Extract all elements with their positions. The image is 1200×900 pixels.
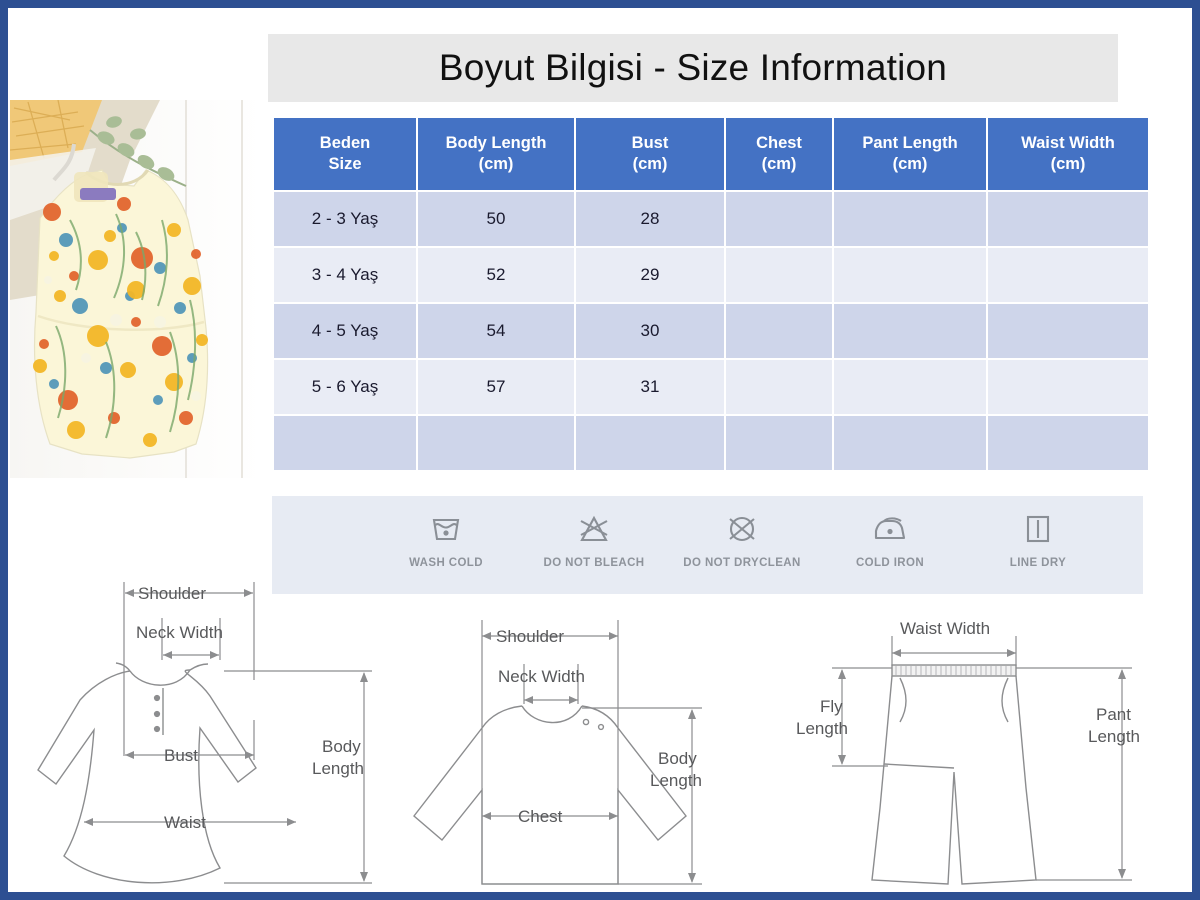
care-label-do-not-bleach: DO NOT BLEACH [543, 557, 644, 569]
table-row [274, 416, 1148, 470]
cell-waist-width [988, 304, 1148, 358]
cell-bust: 28 [576, 192, 724, 246]
cell-chest [726, 304, 832, 358]
dress-label-neck-width: Neck Width [136, 623, 223, 642]
shirt-label-shoulder: Shoulder [496, 627, 564, 646]
column-header-chest: Chest (cm) [726, 118, 832, 190]
do-not-bleach-icon [576, 506, 612, 552]
cell-pant-length [834, 192, 986, 246]
cell-size: 5 - 6 Yaş [274, 360, 416, 414]
cell-bust: 30 [576, 304, 724, 358]
care-item-cold-iron: COLD IRON [816, 506, 964, 569]
page-title-band: Boyut Bilgisi - Size Information [268, 34, 1118, 102]
dress-label-bust: Bust [164, 746, 198, 765]
cell-waist-width [988, 248, 1148, 302]
cell-body-length: 50 [418, 192, 574, 246]
cell-bust [576, 416, 724, 470]
care-label-line-dry: LINE DRY [1010, 557, 1066, 569]
table-row: 4 - 5 Yaş 54 30 [274, 304, 1148, 358]
cell-size: 3 - 4 Yaş [274, 248, 416, 302]
pants-label-pant-length-line2: Length [1088, 727, 1140, 746]
table-row: 5 - 6 Yaş 57 31 [274, 360, 1148, 414]
size-chart-page: Boyut Bilgisi - Size Information [8, 8, 1192, 892]
column-header-body-length-line2: (cm) [422, 154, 570, 175]
shirt-label-neck-width: Neck Width [498, 667, 585, 686]
dress-label-waist: Waist [164, 813, 206, 832]
cell-pant-length [834, 416, 986, 470]
care-item-do-not-dryclean: DO NOT DRYCLEAN [668, 506, 816, 569]
column-header-body-length-line1: Body Length [422, 133, 570, 154]
page-title: Boyut Bilgisi - Size Information [439, 47, 947, 89]
cell-body-length: 54 [418, 304, 574, 358]
table-row: 2 - 3 Yaş 50 28 [274, 192, 1148, 246]
column-header-waist-width-line1: Waist Width [992, 133, 1144, 154]
pants-label-pant-length-line1: Pant [1096, 705, 1131, 724]
cell-chest [726, 360, 832, 414]
product-photo [10, 100, 262, 478]
care-label-do-not-dryclean: DO NOT DRYCLEAN [683, 557, 800, 569]
pants-label-waist-width: Waist Width [900, 619, 990, 638]
column-header-pant-length-line1: Pant Length [838, 133, 982, 154]
column-header-body-length: Body Length (cm) [418, 118, 574, 190]
column-header-bust-line2: (cm) [580, 154, 720, 175]
care-item-wash-cold: WASH COLD [372, 506, 520, 569]
cell-size: 4 - 5 Yaş [274, 304, 416, 358]
column-header-size: Beden Size [274, 118, 416, 190]
care-label-wash-cold: WASH COLD [409, 557, 483, 569]
cell-body-length: 57 [418, 360, 574, 414]
column-header-waist-width-line2: (cm) [992, 154, 1144, 175]
care-label-cold-iron: COLD IRON [856, 557, 924, 569]
cell-pant-length [834, 248, 986, 302]
cell-pant-length [834, 360, 986, 414]
dress-label-body-length-line2: Length [312, 759, 364, 778]
column-header-chest-line1: Chest [730, 133, 828, 154]
column-header-waist-width: Waist Width (cm) [988, 118, 1148, 190]
column-header-chest-line2: (cm) [730, 154, 828, 175]
cell-body-length [418, 416, 574, 470]
table-row: 3 - 4 Yaş 52 29 [274, 248, 1148, 302]
column-header-bust: Bust (cm) [576, 118, 724, 190]
do-not-dryclean-icon [724, 506, 760, 552]
column-header-bust-line1: Bust [580, 133, 720, 154]
line-dry-icon [1023, 506, 1053, 552]
cell-body-length: 52 [418, 248, 574, 302]
wash-cold-icon [429, 506, 463, 552]
cell-size: 2 - 3 Yaş [274, 192, 416, 246]
pants-measurement-diagram: Waist Width Fly Length Pant Length [796, 608, 1188, 892]
cell-bust: 31 [576, 360, 724, 414]
cell-chest [726, 192, 832, 246]
dress-measurement-diagram: Shoulder Neck Width Bust Waist Body Leng… [24, 570, 404, 892]
column-header-pant-length-line2: (cm) [838, 154, 982, 175]
cell-waist-width [988, 192, 1148, 246]
cell-waist-width [988, 416, 1148, 470]
shirt-label-body-length-line2: Length [650, 771, 702, 790]
cell-pant-length [834, 304, 986, 358]
cell-chest [726, 416, 832, 470]
column-header-pant-length: Pant Length (cm) [834, 118, 986, 190]
size-table: Beden Size Body Length (cm) Bust (cm) Ch… [272, 116, 1150, 472]
cell-size [274, 416, 416, 470]
shirt-label-chest: Chest [518, 807, 563, 826]
table-header-row: Beden Size Body Length (cm) Bust (cm) Ch… [274, 118, 1148, 190]
shirt-measurement-diagram: Shoulder Neck Width Chest Body Length [406, 604, 778, 892]
dress-label-shoulder: Shoulder [138, 584, 206, 603]
cell-bust: 29 [576, 248, 724, 302]
column-header-size-line2: Size [278, 154, 412, 175]
column-header-size-line1: Beden [278, 133, 412, 154]
shirt-label-body-length-line1: Body [658, 749, 697, 768]
cell-chest [726, 248, 832, 302]
dress-label-body-length-line1: Body [322, 737, 361, 756]
cold-iron-icon [872, 506, 908, 552]
pants-label-fly-length-line1: Fly [820, 697, 843, 716]
pants-label-fly-length-line2: Length [796, 719, 848, 738]
care-item-line-dry: LINE DRY [964, 506, 1112, 569]
care-item-do-not-bleach: DO NOT BLEACH [520, 506, 668, 569]
cell-waist-width [988, 360, 1148, 414]
